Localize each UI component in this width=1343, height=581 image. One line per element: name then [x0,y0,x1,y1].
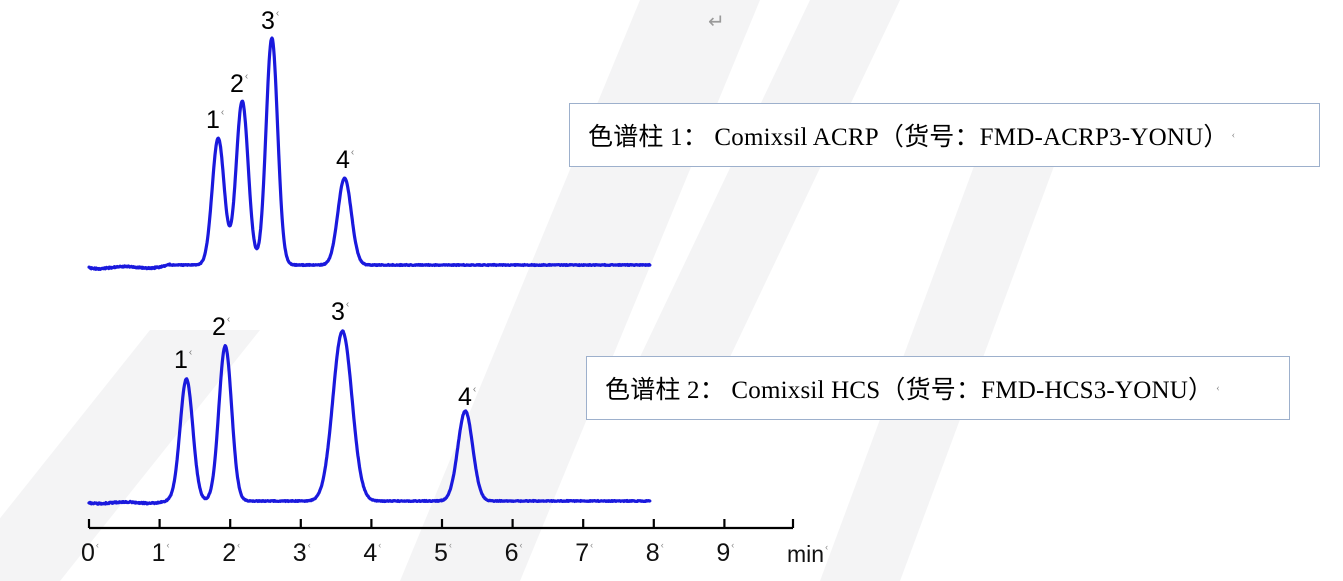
x-axis-label-8: 8‹ [646,541,664,566]
chromatogram-figure-page: 1‹2‹3‹4‹1‹2‹3‹4‹ 0‹1‹2‹3‹4‹5‹6‹7‹8‹9‹min… [0,0,1343,581]
x-axis-label-1: 1‹ [152,541,170,566]
paragraph-return-mark: ↵ [708,12,725,32]
column-1-legend-text: 色谱柱 1： Comixsil ACRP（货号：FMD-ACRP3-YONU） [588,117,1229,153]
x-axis-label-2: 2‹ [222,541,240,566]
column-2-legend-mark: ‹ [1216,382,1220,394]
x-axis-label-4: 4‹ [363,541,381,566]
peak-label-s2-4: 4‹ [458,385,476,410]
x-axis-label-7: 7‹ [575,541,593,566]
peak-label-s1-3: 3‹ [261,9,279,34]
x-axis-label-3: 3‹ [293,541,311,566]
chromatogram-plot [0,0,1343,581]
column-2-legend-text: 色谱柱 2： Comixsil HCS（货号：FMD-HCS3-YONU） [605,370,1213,406]
peak-label-s2-2: 2‹ [212,315,230,340]
peak-label-s2-3: 3‹ [331,300,349,325]
peak-label-s1-2: 2‹ [230,72,248,97]
peak-label-s1-4: 4‹ [336,148,354,173]
column-1-legend-mark: ‹ [1232,129,1236,141]
peak-label-s1-1: 1‹ [206,108,224,133]
x-axis-label-6: 6‹ [505,541,523,566]
x-axis-unit-label: min‹ [787,543,828,566]
x-axis [89,519,793,528]
x-axis-label-0: 0‹ [81,541,99,566]
column-1-legend-box[interactable]: 色谱柱 1： Comixsil ACRP（货号：FMD-ACRP3-YONU） … [569,103,1320,167]
peak-label-s2-1: 1‹ [174,348,192,373]
column-2-legend-box[interactable]: 色谱柱 2： Comixsil HCS（货号：FMD-HCS3-YONU） ‹ [586,356,1290,420]
x-axis-label-5: 5‹ [434,541,452,566]
chromatogram-trace-column-1 [89,38,650,269]
x-axis-label-9: 9‹ [716,541,734,566]
